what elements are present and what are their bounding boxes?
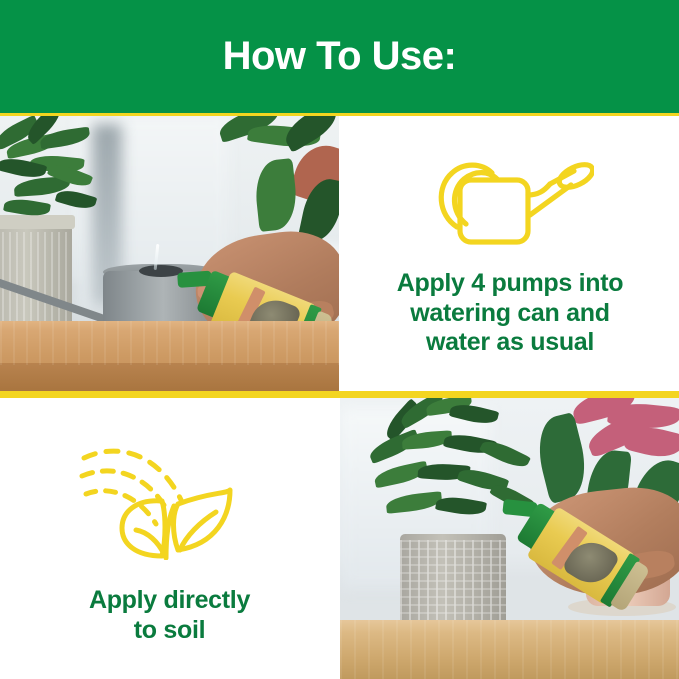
page-title: How To Use: bbox=[223, 36, 457, 76]
wooden-table-grain bbox=[340, 620, 679, 679]
horizontal-yellow-divider bbox=[0, 391, 679, 398]
step-2-photo bbox=[340, 398, 679, 679]
apply-to-soil-photo-scene bbox=[340, 398, 679, 679]
instruction-caption-1: Apply 4 pumps into watering can and wate… bbox=[397, 269, 624, 358]
step-2-text: Apply directly to soil bbox=[0, 398, 339, 679]
wooden-table-grain bbox=[0, 321, 339, 365]
how-to-use-infographic: How To Use: bbox=[0, 0, 679, 679]
step-1-photo bbox=[0, 116, 339, 391]
watering-can-icon bbox=[426, 149, 594, 253]
instruction-panel-2: Apply directly to soil bbox=[0, 398, 339, 679]
watering-can-photo-scene bbox=[0, 116, 339, 391]
step-1-text: Apply 4 pumps into watering can and wate… bbox=[341, 116, 679, 391]
sprout-spray-icon bbox=[70, 432, 270, 560]
instruction-caption-2: Apply directly to soil bbox=[89, 586, 250, 645]
instruction-panel-1: Apply 4 pumps into watering can and wate… bbox=[341, 116, 679, 391]
header-banner: How To Use: bbox=[0, 0, 679, 113]
plant-pot-texture bbox=[0, 232, 72, 328]
